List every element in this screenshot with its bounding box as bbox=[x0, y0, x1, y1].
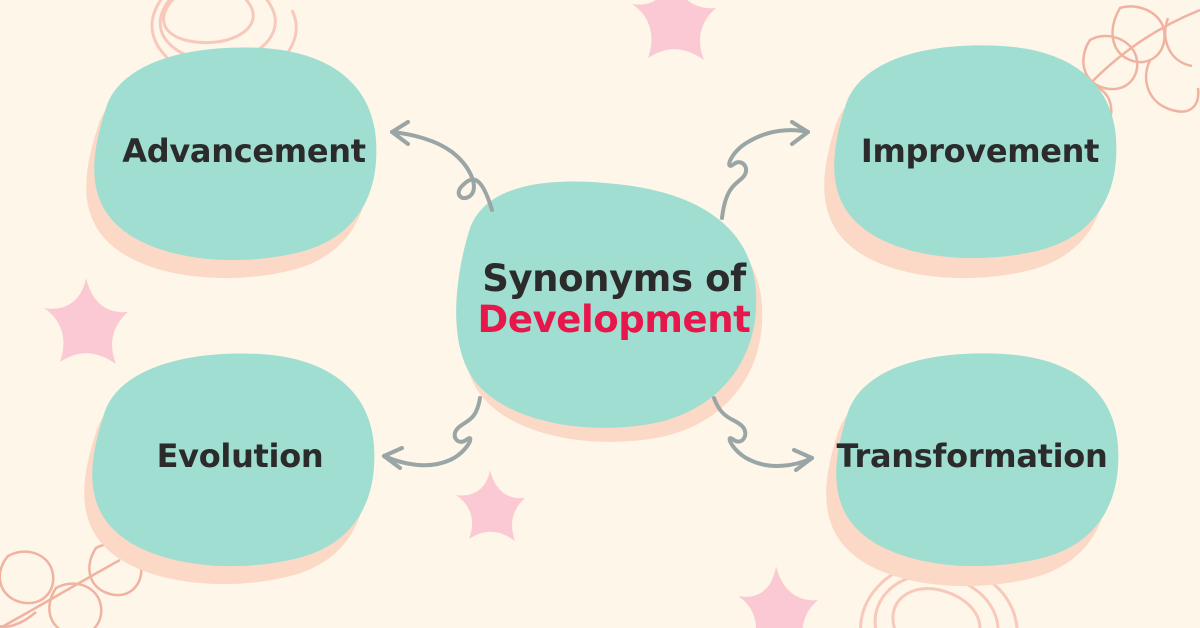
center-label-line2: Development bbox=[446, 299, 782, 340]
node-label-improvement: Improvement bbox=[846, 132, 1114, 170]
node-label-transformation: Transformation bbox=[826, 437, 1118, 475]
connector-improvement bbox=[722, 122, 808, 218]
connector-evolution bbox=[384, 398, 480, 468]
node-label-evolution: Evolution bbox=[104, 437, 376, 475]
center-label-line1: Synonyms of bbox=[446, 258, 782, 299]
connector-advancement bbox=[392, 122, 492, 210]
center-label: Synonyms of Development bbox=[446, 258, 782, 341]
node-label-advancement: Advancement bbox=[106, 132, 382, 170]
diagram-canvas: Advancement Improvement Evolution Transf… bbox=[0, 0, 1200, 628]
connector-transformation bbox=[714, 398, 812, 470]
